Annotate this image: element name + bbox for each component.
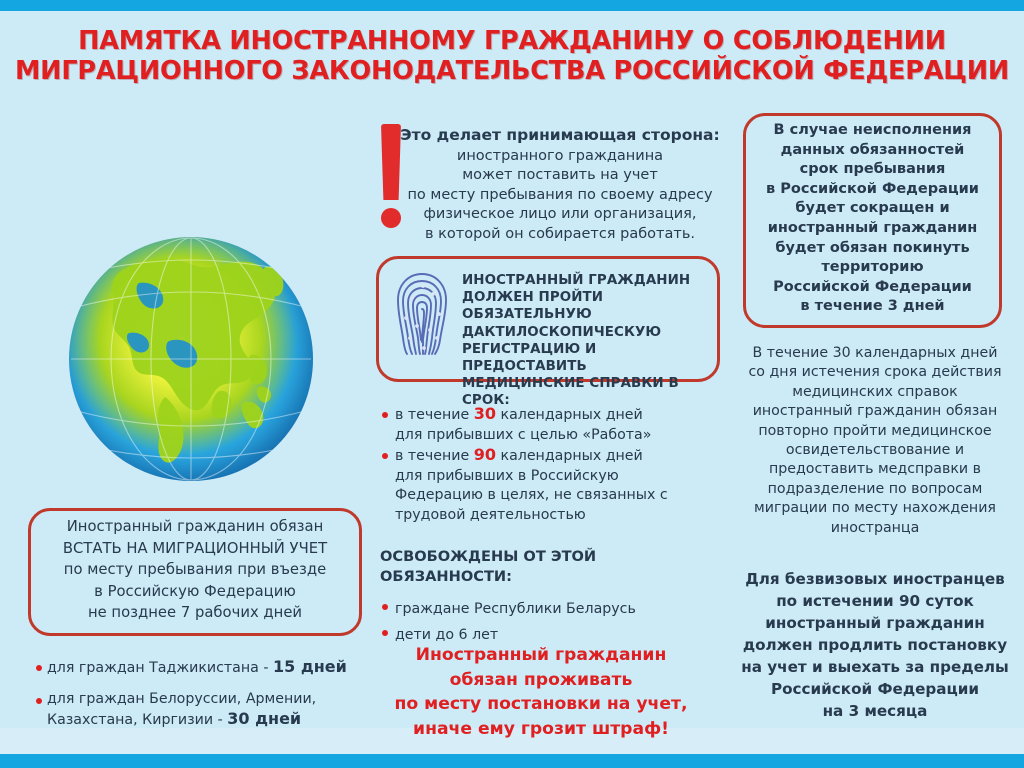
registration-line-4: не позднее 7 рабочих дней: [36, 602, 354, 624]
medical-renewal-line-5: освидетельствование и: [735, 441, 1015, 460]
list-item: в течение 30 календарных дней для прибыв…: [380, 404, 710, 445]
medical-renewal-line-3: иностранный гражданин обязан: [735, 402, 1015, 421]
consequences-line-1: данных обязанностей: [750, 141, 995, 161]
list-item: в течение 90 календарных дней для прибыв…: [380, 445, 710, 525]
globe-icon: [69, 237, 313, 481]
consequences-line-6: будет обязан покинуть: [750, 239, 995, 259]
deadline-0-suffix: календарных дней: [496, 407, 643, 423]
consequences-line-2: срок пребывания: [750, 160, 995, 180]
registration-line-3: в Российскую Федерацию: [36, 581, 354, 603]
registration-line-1: ВСТАТЬ НА МИГРАЦИОННЫЙ УЧЕТ: [36, 538, 354, 560]
visa-free-line-0: Для безвизовых иностранцев: [735, 568, 1015, 590]
country-term-1-text2: Казахстана, Киргизии -: [47, 712, 227, 728]
exclamation-bar: [381, 124, 401, 200]
residence-warning-line-3: иначе ему грозит штраф!: [376, 717, 706, 742]
medical-renewal-block: В течение 30 календарных дней со дня ист…: [735, 344, 1015, 538]
exempt-section: ОСВОБОЖДЕНЫ ОТ ЭТОЙ ОБЯЗАННОСТИ: граждан…: [380, 547, 710, 648]
medical-renewal-line-7: подразделение по вопросам: [735, 480, 1015, 499]
consequences-text: В случае неисполнения данных обязанносте…: [750, 121, 995, 317]
fingerprint-box-text: ИНОСТРАННЫЙ ГРАЖДАНИН ДОЛЖЕН ПРОЙТИ ОБЯЗ…: [462, 272, 714, 410]
medical-renewal-line-8: миграции по месту нахождения: [735, 499, 1015, 518]
visa-free-line-4: на учет и выехать за пределы: [735, 656, 1015, 678]
host-party-line-1: может поставить на учет: [400, 166, 720, 186]
host-party-heading: Это делает принимающая сторона:: [400, 126, 720, 146]
residence-warning-line-0: Иностранный гражданин: [376, 643, 706, 668]
poster-canvas: ПАМЯТКА ИНОСТРАННОМУ ГРАЖДАНИНУ О СОБЛЮД…: [0, 0, 1024, 768]
registration-line-2: по месту пребывания при въезде: [36, 559, 354, 581]
medical-renewal-line-0: В течение 30 календарных дней: [735, 344, 1015, 363]
consequences-line-9: в течение 3 дней: [750, 297, 995, 317]
exclamation-dot: [381, 208, 401, 228]
visa-free-line-1: по истечении 90 суток: [735, 590, 1015, 612]
country-term-1-highlight: 30 дней: [227, 709, 301, 728]
deadline-0-detail: для прибывших с целью «Работа»: [395, 426, 710, 446]
medical-renewal-line-4: повторно пройти медицинское: [735, 422, 1015, 441]
globe-continents: [69, 237, 313, 481]
page-title-line2: МИГРАЦИОННОГО ЗАКОНОДАТЕЛЬСТВА РОССИЙСКО…: [0, 56, 1024, 86]
consequences-line-7: территорию: [750, 258, 995, 278]
top-accent-bar: [0, 0, 1024, 11]
fingerprint-icon: [392, 268, 452, 356]
medical-renewal-line-1: со дня истечения срока действия: [735, 363, 1015, 382]
host-party-block: Это делает принимающая сторона: иностран…: [400, 126, 720, 244]
residence-warning-line-2: по месту постановки на учет,: [376, 692, 706, 717]
consequences-line-8: Российской Федерации: [750, 278, 995, 298]
visa-free-block: Для безвизовых иностранцев по истечении …: [735, 568, 1015, 722]
deadline-1-number: 90: [474, 445, 496, 464]
visa-free-line-6: на 3 месяца: [735, 700, 1015, 722]
consequences-line-5: иностранный гражданин: [750, 219, 995, 239]
country-term-0-highlight: 15 дней: [273, 657, 347, 676]
registration-line-0: Иностранный гражданин обязан: [36, 516, 354, 538]
medical-renewal-line-9: иностранца: [735, 519, 1015, 538]
page-title: ПАМЯТКА ИНОСТРАННОМУ ГРАЖДАНИНУ О СОБЛЮД…: [0, 26, 1024, 86]
host-party-line-0: иностранного гражданина: [400, 147, 720, 167]
residence-warning-line-1: обязан проживать: [376, 668, 706, 693]
deadline-0-prefix: в течение: [395, 407, 474, 423]
page-title-line1: ПАМЯТКА ИНОСТРАННОМУ ГРАЖДАНИНУ О СОБЛЮД…: [78, 26, 946, 56]
fingerprint-line-0: ИНОСТРАННЫЙ ГРАЖДАНИН: [462, 272, 714, 289]
host-party-line-2: по месту пребывания по своему адресу: [400, 186, 720, 206]
country-term-0-text: для граждан Таджикистана -: [47, 660, 273, 676]
host-party-line-3: физическое лицо или организация,: [400, 205, 720, 225]
bottom-accent-bar: [0, 754, 1024, 768]
list-item: для граждан Белоруссии, Армении, Казахст…: [34, 690, 364, 730]
deadlines-list: в течение 30 календарных дней для прибыв…: [380, 404, 710, 526]
deadline-1-prefix: в течение: [395, 448, 474, 464]
fingerprint-line-2: ДАКТИЛОСКОПИЧЕСКУЮ: [462, 324, 714, 341]
visa-free-line-3: должен продлить постановку: [735, 634, 1015, 656]
country-terms-list: для граждан Таджикистана - 15 дней для г…: [34, 657, 364, 730]
consequences-line-3: в Российской Федерации: [750, 180, 995, 200]
country-term-1-text: для граждан Белоруссии, Армении,: [47, 691, 316, 707]
deadline-1-detail: для прибывших в Российскую Федерацию в ц…: [395, 467, 710, 526]
medical-renewal-line-2: медицинских справок: [735, 383, 1015, 402]
fingerprint-line-3: РЕГИСТРАЦИЮ И ПРЕДОСТАВИТЬ: [462, 341, 714, 375]
visa-free-line-5: Российской Федерации: [735, 678, 1015, 700]
consequences-line-4: будет сокращен и: [750, 199, 995, 219]
residence-warning: Иностранный гражданин обязан проживать п…: [376, 643, 706, 741]
registration-box-text: Иностранный гражданин обязан ВСТАТЬ НА М…: [36, 516, 354, 624]
visa-free-line-2: иностранный гражданин: [735, 612, 1015, 634]
list-item: для граждан Таджикистана - 15 дней: [34, 657, 364, 678]
deadline-0-number: 30: [474, 404, 496, 423]
exempt-heading: ОСВОБОЖДЕНЫ ОТ ЭТОЙ ОБЯЗАННОСТИ:: [380, 547, 710, 587]
consequences-line-0: В случае неисполнения: [750, 121, 995, 141]
list-item: граждане Республики Беларусь: [380, 596, 710, 622]
deadline-1-suffix: календарных дней: [496, 448, 643, 464]
fingerprint-line-1: ДОЛЖЕН ПРОЙТИ ОБЯЗАТЕЛЬНУЮ: [462, 289, 714, 323]
host-party-line-4: в которой он собирается работать.: [400, 225, 720, 245]
medical-renewal-line-6: предоставить медсправки в: [735, 460, 1015, 479]
